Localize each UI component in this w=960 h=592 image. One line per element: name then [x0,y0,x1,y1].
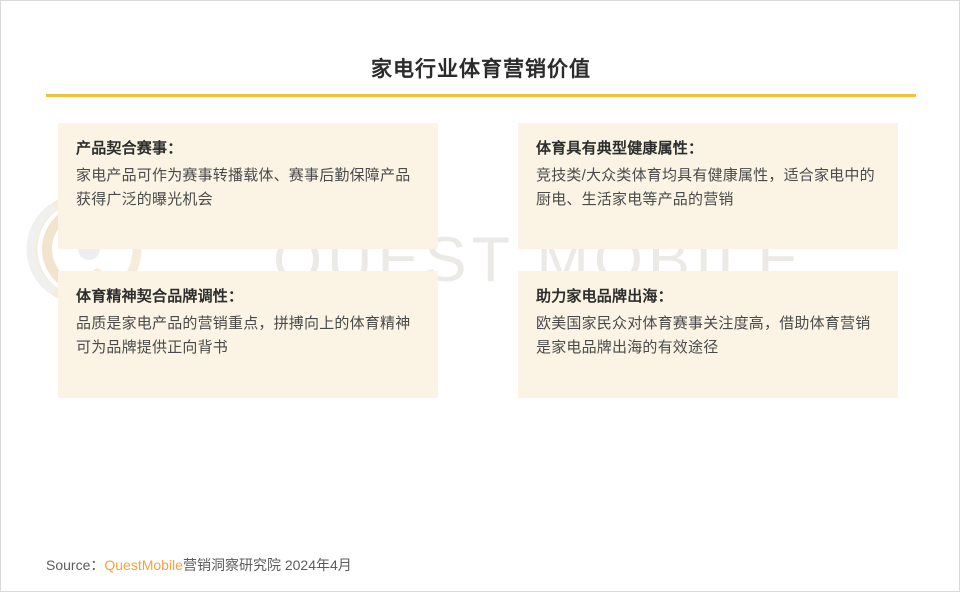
value-card: 助力家电品牌出海： 欧美国家民众对体育赛事关注度高，借助体育营销是家电品牌出海的… [518,271,898,398]
value-card-grid: 产品契合赛事： 家电产品可作为赛事转播载体、赛事后勤保障产品获得广泛的曝光机会 … [58,123,901,398]
value-card-body: 品质是家电产品的营销重点，拼搏向上的体育精神可为品牌提供正向背书 [76,312,420,361]
source-suffix: 营销洞察研究院 2024年4月 [183,557,352,573]
value-card-heading: 体育精神契合品牌调性： [76,286,420,309]
source-brand: QuestMobile [104,557,183,573]
source-label: Source： [46,557,104,573]
value-card-heading: 助力家电品牌出海： [536,286,880,309]
value-card-body: 欧美国家民众对体育赛事关注度高，借助体育营销是家电品牌出海的有效途径 [536,312,880,361]
value-card: 产品契合赛事： 家电产品可作为赛事转播载体、赛事后勤保障产品获得广泛的曝光机会 [58,123,438,249]
page-title: 家电行业体育营销价值 [1,53,960,83]
value-card-body: 家电产品可作为赛事转播载体、赛事后勤保障产品获得广泛的曝光机会 [76,164,420,213]
value-card-heading: 产品契合赛事： [76,138,420,161]
source-note: Source：QuestMobile营销洞察研究院 2024年4月 [46,555,352,575]
value-card-body: 竞技类/大众类体育均具有健康属性，适合家电中的厨电、生活家电等产品的营销 [536,164,880,213]
slide: QUEST MOBILE 家电行业体育营销价值 产品契合赛事： 家电产品可作为赛… [0,0,960,592]
value-card: 体育精神契合品牌调性： 品质是家电产品的营销重点，拼搏向上的体育精神可为品牌提供… [58,271,438,398]
value-card: 体育具有典型健康属性： 竞技类/大众类体育均具有健康属性，适合家电中的厨电、生活… [518,123,898,249]
value-card-heading: 体育具有典型健康属性： [536,138,880,161]
title-divider [46,94,916,97]
